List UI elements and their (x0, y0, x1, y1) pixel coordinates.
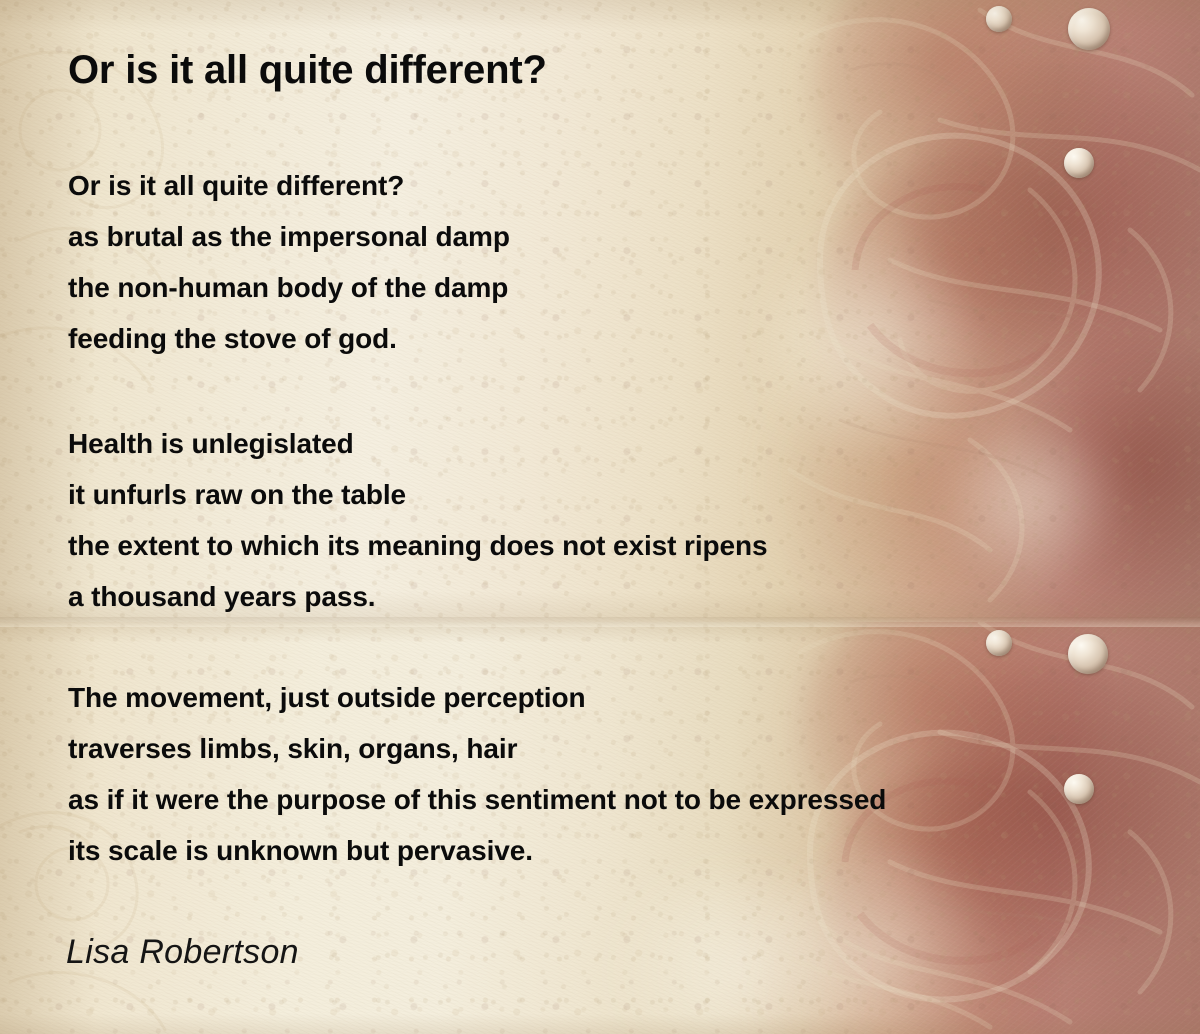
poem-stanza-1: Or is it all quite different? as brutal … (68, 160, 510, 364)
poem-line: feeding the stove of god. (68, 313, 510, 364)
poem-stanza-3: The movement, just outside perception tr… (68, 672, 886, 876)
poem-line: a thousand years pass. (68, 571, 768, 622)
poem-line: the extent to which its meaning does not… (68, 520, 768, 571)
poem-line: Health is unlegislated (68, 418, 768, 469)
poem-title: Or is it all quite different? (68, 48, 547, 93)
poem-line: as if it were the purpose of this sentim… (68, 774, 886, 825)
poem-stanza-2: Health is unlegislated it unfurls raw on… (68, 418, 768, 622)
poem-text-layer: Or is it all quite different? Or is it a… (0, 0, 1200, 1034)
poem-line: traverses limbs, skin, organs, hair (68, 723, 886, 774)
poem-author: Lisa Robertson (66, 933, 299, 972)
poem-line: it unfurls raw on the table (68, 469, 768, 520)
poem-line: its scale is unknown but pervasive. (68, 825, 886, 876)
poem-line: The movement, just outside perception (68, 672, 886, 723)
poem-line: as brutal as the impersonal damp (68, 211, 510, 262)
poem-line: Or is it all quite different? (68, 160, 510, 211)
poem-card: Or is it all quite different? Or is it a… (0, 0, 1200, 1034)
poem-line: the non-human body of the damp (68, 262, 510, 313)
